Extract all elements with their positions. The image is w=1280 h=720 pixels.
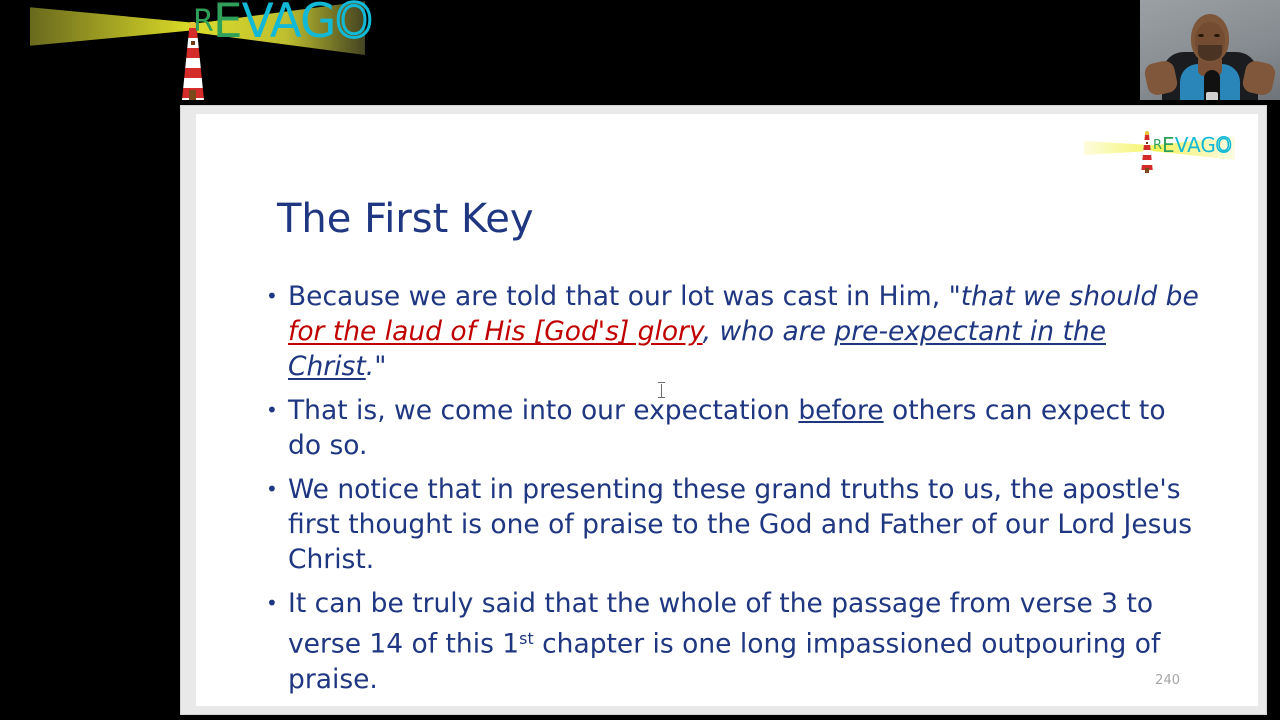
slide-page-number: 240 xyxy=(1155,673,1180,688)
lighthouse-beam-left xyxy=(30,0,195,52)
brand-wordmark: REVAGO xyxy=(193,0,371,45)
bullet-2-seg-0: That is, we come into our expectation xyxy=(288,395,798,426)
slide-brand-letter-r: R xyxy=(1153,138,1162,153)
slide-brand-wordmark: REVAGO xyxy=(1153,135,1232,155)
slide-corner-logo: REVAGO xyxy=(1081,121,1231,183)
slide-lighthouse-door xyxy=(1145,168,1149,173)
slide-frame: REVAGO The First Key • Because we are to… xyxy=(181,106,1266,714)
bullet-1-seg-5: ." xyxy=(366,351,387,382)
presentation-slide[interactable]: REVAGO The First Key • Because we are to… xyxy=(196,114,1258,706)
bullet-item-4: • It can be truly said that the whole of… xyxy=(266,586,1206,697)
slide-lighthouse-lamp xyxy=(1145,131,1149,135)
bullet-text-4: It can be truly said that the whole of t… xyxy=(288,586,1206,697)
lighthouse-door xyxy=(189,90,196,100)
microphone-icon xyxy=(1204,70,1220,100)
bullet-1-seg-0: Because we are told that our lot was cas… xyxy=(288,281,949,312)
branding-banner: REVAGO xyxy=(0,0,1280,100)
slide-brand-letters-vag: VAG xyxy=(1175,133,1216,157)
bullet-marker: • xyxy=(266,472,288,507)
brand-letters-vag: VAG xyxy=(242,0,336,49)
slide-brand-letter-o: O xyxy=(1216,133,1232,157)
webcam-beard xyxy=(1198,45,1222,61)
webcam-eye-left xyxy=(1198,34,1204,37)
bullet-1-seg-1: "that we should be xyxy=(949,281,1199,312)
bullet-marker: • xyxy=(266,586,288,621)
bullet-item-2: • That is, we come into our expectation … xyxy=(266,393,1206,463)
bullet-4-ordinal-suffix: st xyxy=(519,629,534,648)
bullet-text-3: We notice that in presenting these grand… xyxy=(288,472,1206,577)
bullet-text-1: Because we are told that our lot was cas… xyxy=(288,279,1206,384)
screen-share-surface: REVAGO REVAGO xyxy=(0,0,1280,720)
presenter-webcam-tile[interactable] xyxy=(1140,0,1280,100)
slide-brand-letter-e: E xyxy=(1162,133,1175,157)
bullet-marker: • xyxy=(266,393,288,428)
bullet-text-2: That is, we come into our expectation be… xyxy=(288,393,1206,463)
brand-letter-o: O xyxy=(335,0,371,49)
brand-letter-r: R xyxy=(193,4,213,39)
slide-bullet-list: • Because we are told that our lot was c… xyxy=(266,279,1206,706)
bullet-item-3: • We notice that in presenting these gra… xyxy=(266,472,1206,577)
slide-title: The First Key xyxy=(277,196,534,242)
brand-letter-e: E xyxy=(213,0,242,49)
webcam-eye-right xyxy=(1214,34,1220,37)
bullet-1-seg-3: , who are xyxy=(703,316,835,347)
bullet-1-highlight-red: for the laud of His [God's] glory xyxy=(288,316,703,347)
bullet-marker: • xyxy=(266,279,288,314)
bullet-2-highlight-before: before xyxy=(798,395,883,426)
bullet-item-1: • Because we are told that our lot was c… xyxy=(266,279,1206,384)
